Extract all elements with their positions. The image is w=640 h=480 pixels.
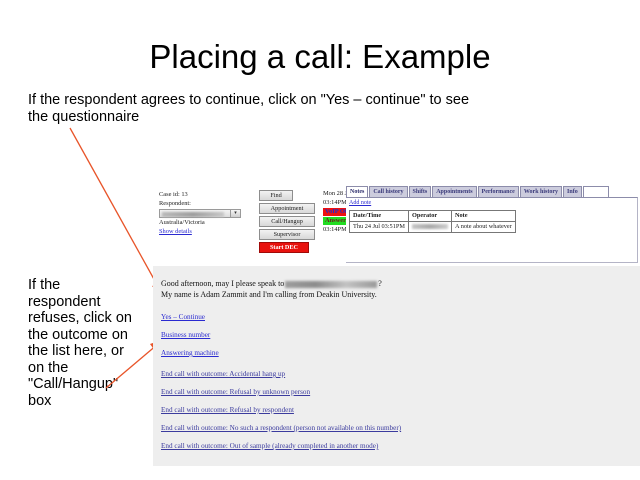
respondent-redacted-value xyxy=(162,212,224,217)
script-intro-line: My name is Adam Zammit and I'm calling f… xyxy=(161,290,377,300)
column-header-note: Note xyxy=(451,211,515,222)
bullet-text-left: If the respondent refuses, click on the … xyxy=(28,277,132,409)
tab-strip: Notes Call history Shifts Appointments P… xyxy=(346,186,610,197)
notes-table: Date/Time Operator Note Thu 24 Jul 03:51… xyxy=(349,210,516,233)
operator-redacted-value xyxy=(412,224,448,229)
find-button[interactable]: Find xyxy=(259,190,293,201)
case-id-label: Case id: 13 xyxy=(159,191,255,200)
slide-canvas: Placing a call: Example If the responden… xyxy=(0,0,640,480)
supervisor-button[interactable]: Supervisor xyxy=(259,229,315,240)
tab-info[interactable]: Info xyxy=(563,186,582,197)
call-hangup-button[interactable]: Call/Hangup xyxy=(259,216,315,227)
outcome-no-such-respondent[interactable]: End call with outcome: No such a respond… xyxy=(161,424,401,433)
page-title: Placing a call: Example xyxy=(0,38,640,76)
notebook-panel: Notes Call history Shifts Appointments P… xyxy=(346,186,638,266)
column-header-operator: Operator xyxy=(408,211,451,222)
show-details-link[interactable]: Show details xyxy=(159,228,255,237)
locale-label: Australia/Victoria xyxy=(159,219,255,228)
cell-operator xyxy=(408,222,451,233)
table-header-row: Date/Time Operator Note xyxy=(350,211,516,222)
script-greeting-suffix: ? xyxy=(378,279,382,288)
table-row[interactable]: Thu 24 Jul 03:51PM A note about whatever xyxy=(350,222,516,233)
appointment-button[interactable]: Appointment xyxy=(259,203,315,214)
tab-performance[interactable]: Performance xyxy=(478,186,519,197)
respondent-name-redacted xyxy=(285,281,377,288)
script-greeting-text: Good afternoon, may I please speak to xyxy=(161,279,284,288)
add-note-link[interactable]: Add note xyxy=(349,200,371,206)
respondent-label: Respondent: xyxy=(159,200,255,209)
call-script-body: Good afternoon, may I please speak to? M… xyxy=(153,266,640,466)
case-info-block: Case id: 13 Respondent: ▾ Australia/Vict… xyxy=(159,191,255,236)
chevron-down-icon[interactable]: ▾ xyxy=(230,210,240,217)
option-yes-continue[interactable]: Yes – Continue xyxy=(161,313,205,322)
option-answering-machine[interactable]: Answering machine xyxy=(161,349,219,358)
outcome-out-of-sample[interactable]: End call with outcome: Out of sample (al… xyxy=(161,442,378,451)
start-dec-button[interactable]: Start DEC xyxy=(259,242,309,253)
respondent-select[interactable]: ▾ xyxy=(159,209,241,218)
tab-notes[interactable]: Notes xyxy=(346,186,368,197)
app-header-strip: Case id: 13 Respondent: ▾ Australia/Vict… xyxy=(153,185,640,266)
tab-call-history[interactable]: Call history xyxy=(369,186,407,197)
outcome-refusal-by-respondent[interactable]: End call with outcome: Refusal by respon… xyxy=(161,406,294,415)
column-header-datetime: Date/Time xyxy=(350,211,409,222)
tab-shifts[interactable]: Shifts xyxy=(409,186,432,197)
cell-note: A note about whatever xyxy=(451,222,515,233)
outcome-accidental-hang-up[interactable]: End call with outcome: Accidental hang u… xyxy=(161,370,285,379)
option-business-number[interactable]: Business number xyxy=(161,331,210,340)
action-button-column: Find Appointment Call/Hangup Supervisor … xyxy=(259,190,321,255)
embedded-app-screenshot: Case id: 13 Respondent: ▾ Australia/Vict… xyxy=(153,185,640,466)
outcome-refusal-unknown-person[interactable]: End call with outcome: Refusal by unknow… xyxy=(161,388,310,397)
cell-datetime: Thu 24 Jul 03:51PM xyxy=(350,222,409,233)
script-greeting-line: Good afternoon, may I please speak to? xyxy=(161,279,382,289)
tab-work-history[interactable]: Work history xyxy=(520,186,562,197)
notes-tab-panel: Add note Date/Time Operator Note Thu 24 … xyxy=(346,197,638,263)
tab-appointments[interactable]: Appointments xyxy=(432,186,476,197)
bullet-text-top: If the respondent agrees to continue, cl… xyxy=(28,92,478,126)
tab-strip-filler xyxy=(583,186,609,197)
